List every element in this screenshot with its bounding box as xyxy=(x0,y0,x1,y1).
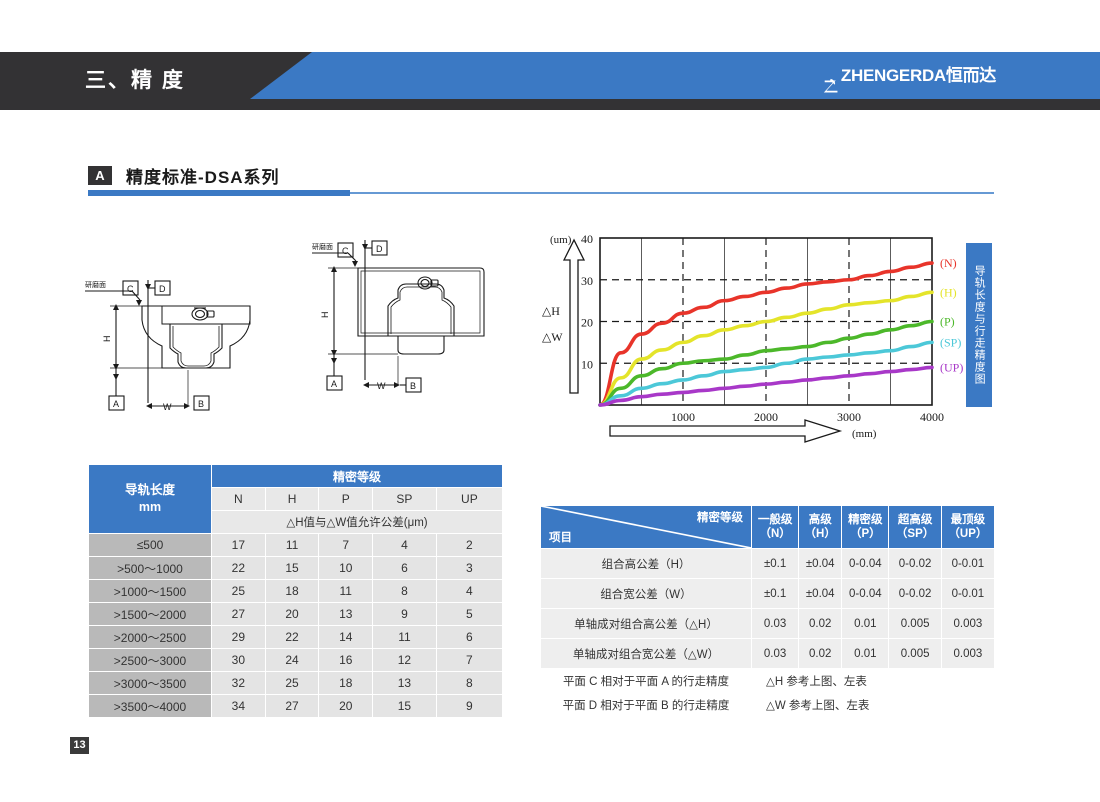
svg-text:(UP): (UP) xyxy=(940,360,963,374)
ground-surface-label-right: 研磨面 xyxy=(312,242,333,251)
svg-text:D: D xyxy=(376,244,383,254)
item-label-cell: 平面 C 相对于平面 A 的行走精度 xyxy=(541,669,752,693)
tolerance-cell: 5 xyxy=(436,603,502,626)
tolerance-cell: 4 xyxy=(373,534,437,557)
grade-value-cell: 0-0.02 xyxy=(889,579,941,609)
tolerance-cell: 14 xyxy=(319,626,373,649)
tolerance-cell: 15 xyxy=(265,557,319,580)
length-range-cell: >1000〜1500 xyxy=(89,580,212,603)
page-title: 三、精 度 xyxy=(85,52,185,110)
grade-value-cell: 0.02 xyxy=(799,639,842,669)
accuracy-grade-table: 精密等级项目一般级（N）高级（H）精密级（P）超高级（SP）最顶级（UP）组合高… xyxy=(540,505,995,717)
svg-text:C: C xyxy=(342,246,349,256)
svg-text:B: B xyxy=(198,399,204,409)
grade-value-cell: 0.01 xyxy=(842,609,889,639)
tolerance-cell: 20 xyxy=(265,603,319,626)
length-range-cell: >2000〜2500 xyxy=(89,626,212,649)
svg-text:H: H xyxy=(320,312,330,319)
svg-text:(N): (N) xyxy=(940,256,957,270)
svg-text:B: B xyxy=(410,381,416,391)
svg-text:20: 20 xyxy=(581,316,593,330)
reference-note-cell: △W 参考上图、左表 xyxy=(752,693,995,717)
svg-text:W: W xyxy=(377,381,386,391)
length-range-cell: >3500〜4000 xyxy=(89,695,212,718)
svg-text:C: C xyxy=(127,284,134,294)
brand-name: ZHENGERDA恒而达 xyxy=(841,52,996,99)
item-label-cell: 单轴成对组合高公差（△H） xyxy=(541,609,752,639)
split-header-cell: 精密等级项目 xyxy=(541,506,752,549)
technical-drawings: 研磨面 C D xyxy=(80,228,520,423)
table-row: >3500〜4000342720159 xyxy=(89,695,503,718)
svg-text:(P): (P) xyxy=(940,315,955,329)
tolerance-cell: 11 xyxy=(319,580,373,603)
tolerance-cell: 25 xyxy=(212,580,266,603)
grade-header-p: P xyxy=(319,488,373,511)
grade-value-cell: 0.003 xyxy=(941,639,994,669)
chart-title-text: 导轨长度与行走精度图 xyxy=(973,265,985,385)
tolerance-cell: 2 xyxy=(436,534,502,557)
page-number: 13 xyxy=(70,737,89,754)
length-range-cell: >1500〜2000 xyxy=(89,603,212,626)
tolerance-cell: 25 xyxy=(265,672,319,695)
tolerance-cell: 8 xyxy=(436,672,502,695)
grade-column-header-3: 超高级（SP） xyxy=(889,506,941,549)
grade-column-header-1: 高级（H） xyxy=(799,506,842,549)
table-row: 单轴成对组合宽公差（△W）0.030.020.010.0050.003 xyxy=(541,639,995,669)
grade-value-cell: ±0.04 xyxy=(799,549,842,579)
svg-text:(SP): (SP) xyxy=(940,335,961,349)
tolerance-cell: 18 xyxy=(265,580,319,603)
tolerance-cell: 12 xyxy=(373,649,437,672)
item-label-cell: 单轴成对组合宽公差（△W） xyxy=(541,639,752,669)
svg-text:40: 40 xyxy=(581,232,593,246)
tolerance-cell: 22 xyxy=(212,557,266,580)
svg-text:3000: 3000 xyxy=(837,410,861,424)
table-row: >1000〜150025181184 xyxy=(89,580,503,603)
svg-text:(um): (um) xyxy=(550,234,572,246)
tolerance-cell: 4 xyxy=(436,580,502,603)
tolerance-cell: 13 xyxy=(319,603,373,626)
tolerance-cell: 22 xyxy=(265,626,319,649)
svg-text:△H: △H xyxy=(542,304,560,318)
svg-text:1000: 1000 xyxy=(671,410,695,424)
table-row: >1500〜200027201395 xyxy=(89,603,503,626)
svg-text:W: W xyxy=(163,402,172,412)
tolerance-cell: 32 xyxy=(212,672,266,695)
grade-value-cell: 0.005 xyxy=(889,639,941,669)
length-range-cell: >3000〜3500 xyxy=(89,672,212,695)
ground-surface-label-left: 研磨面 xyxy=(85,280,106,289)
svg-text:A: A xyxy=(331,379,337,389)
table-row: >2500〜3000302416127 xyxy=(89,649,503,672)
accuracy-chart: (um)△H△W102030401000200030004000(N)(H)(P… xyxy=(540,230,1000,450)
grade-value-cell: 0.01 xyxy=(842,639,889,669)
tolerance-cell: 3 xyxy=(436,557,502,580)
tolerance-cell: 24 xyxy=(265,649,319,672)
section-rule-thick xyxy=(88,190,350,196)
tolerance-cell: 30 xyxy=(212,649,266,672)
split-header-item: 项目 xyxy=(549,529,572,545)
tolerance-cell: 7 xyxy=(436,649,502,672)
grade-column-header-2: 精密级（P） xyxy=(842,506,889,549)
svg-text:2000: 2000 xyxy=(754,410,778,424)
page-header: 三、精 度 ZHENGERDA恒而达 xyxy=(0,52,1100,110)
grade-header-h: H xyxy=(265,488,319,511)
grade-value-cell: 0.005 xyxy=(889,609,941,639)
tolerance-cell: 16 xyxy=(319,649,373,672)
table-row: >2000〜2500292214116 xyxy=(89,626,503,649)
item-label-cell: 平面 D 相对于平面 B 的行走精度 xyxy=(541,693,752,717)
grade-value-cell: 0-0.04 xyxy=(842,549,889,579)
svg-text:4000: 4000 xyxy=(920,410,944,424)
tolerance-table-by-length: 导轨长度mm精密等级NHPSPUP△H值与△W值允许公差(μm)≤5001711… xyxy=(88,464,503,718)
grade-value-cell: 0-0.04 xyxy=(842,579,889,609)
item-label-cell: 组合高公差（H） xyxy=(541,549,752,579)
grade-value-cell: 0-0.02 xyxy=(889,549,941,579)
tolerance-cell: 11 xyxy=(265,534,319,557)
length-range-cell: ≤500 xyxy=(89,534,212,557)
table-row: >3000〜3500322518138 xyxy=(89,672,503,695)
tolerance-cell: 20 xyxy=(319,695,373,718)
svg-text:10: 10 xyxy=(581,357,593,371)
svg-text:H: H xyxy=(102,336,112,343)
grade-header-up: UP xyxy=(436,488,502,511)
table-row: 组合宽公差（W）±0.1±0.040-0.040-0.020-0.01 xyxy=(541,579,995,609)
table-row: >500〜100022151063 xyxy=(89,557,503,580)
length-range-cell: >2500〜3000 xyxy=(89,649,212,672)
tolerance-cell: 34 xyxy=(212,695,266,718)
tolerance-cell: 27 xyxy=(265,695,319,718)
item-label-cell: 组合宽公差（W） xyxy=(541,579,752,609)
tolerance-cell: 10 xyxy=(319,557,373,580)
grade-value-cell: 0-0.01 xyxy=(941,549,994,579)
grade-group-header: 精密等级 xyxy=(212,465,503,488)
chart-title-tab: 导轨长度与行走精度图 xyxy=(966,243,992,407)
tolerance-cell: 11 xyxy=(373,626,437,649)
tolerance-cell: 9 xyxy=(373,603,437,626)
grade-value-cell: ±0.1 xyxy=(752,549,799,579)
tolerance-cell: 17 xyxy=(212,534,266,557)
tolerance-note: △H值与△W值允许公差(μm) xyxy=(212,511,503,534)
table-row: 单轴成对组合高公差（△H）0.030.020.010.0050.003 xyxy=(541,609,995,639)
svg-text:△W: △W xyxy=(542,330,563,344)
grade-value-cell: 0-0.01 xyxy=(941,579,994,609)
tolerance-cell: 18 xyxy=(319,672,373,695)
tolerance-cell: 8 xyxy=(373,580,437,603)
grade-value-cell: 0.003 xyxy=(941,609,994,639)
tolerance-cell: 6 xyxy=(373,557,437,580)
grade-value-cell: ±0.04 xyxy=(799,579,842,609)
svg-text:(mm): (mm) xyxy=(852,428,877,440)
grade-value-cell: ±0.1 xyxy=(752,579,799,609)
table-row: 平面 C 相对于平面 A 的行走精度△H 参考上图、左表 xyxy=(541,669,995,693)
tolerance-cell: 9 xyxy=(436,695,502,718)
section-title: 精度标准-DSA系列 xyxy=(126,163,280,188)
grade-value-cell: 0.03 xyxy=(752,639,799,669)
length-range-cell: >500〜1000 xyxy=(89,557,212,580)
tolerance-cell: 13 xyxy=(373,672,437,695)
table-row: 组合高公差（H）±0.1±0.040-0.040-0.020-0.01 xyxy=(541,549,995,579)
tolerance-cell: 7 xyxy=(319,534,373,557)
grade-column-header-4: 最顶级（UP） xyxy=(941,506,994,549)
grade-header-n: N xyxy=(212,488,266,511)
brand-logo: ZHENGERDA恒而达 xyxy=(823,52,996,99)
length-column-header: 导轨长度mm xyxy=(89,465,212,534)
grade-value-cell: 0.02 xyxy=(799,609,842,639)
grade-value-cell: 0.03 xyxy=(752,609,799,639)
section-rule-thin xyxy=(350,192,994,194)
z-bird-logo-icon xyxy=(823,67,840,84)
svg-text:(H): (H) xyxy=(940,285,957,299)
grade-column-header-0: 一般级（N） xyxy=(752,506,799,549)
svg-text:A: A xyxy=(113,399,119,409)
svg-text:30: 30 xyxy=(581,274,593,288)
table-row: 平面 D 相对于平面 B 的行走精度△W 参考上图、左表 xyxy=(541,693,995,717)
svg-text:D: D xyxy=(159,284,166,294)
table-row: ≤5001711742 xyxy=(89,534,503,557)
tolerance-cell: 27 xyxy=(212,603,266,626)
grade-header-sp: SP xyxy=(373,488,437,511)
tolerance-cell: 15 xyxy=(373,695,437,718)
tolerance-cell: 6 xyxy=(436,626,502,649)
tolerance-cell: 29 xyxy=(212,626,266,649)
section-badge: A xyxy=(88,166,112,185)
split-header-grade: 精密等级 xyxy=(697,509,743,525)
reference-note-cell: △H 参考上图、左表 xyxy=(752,669,995,693)
